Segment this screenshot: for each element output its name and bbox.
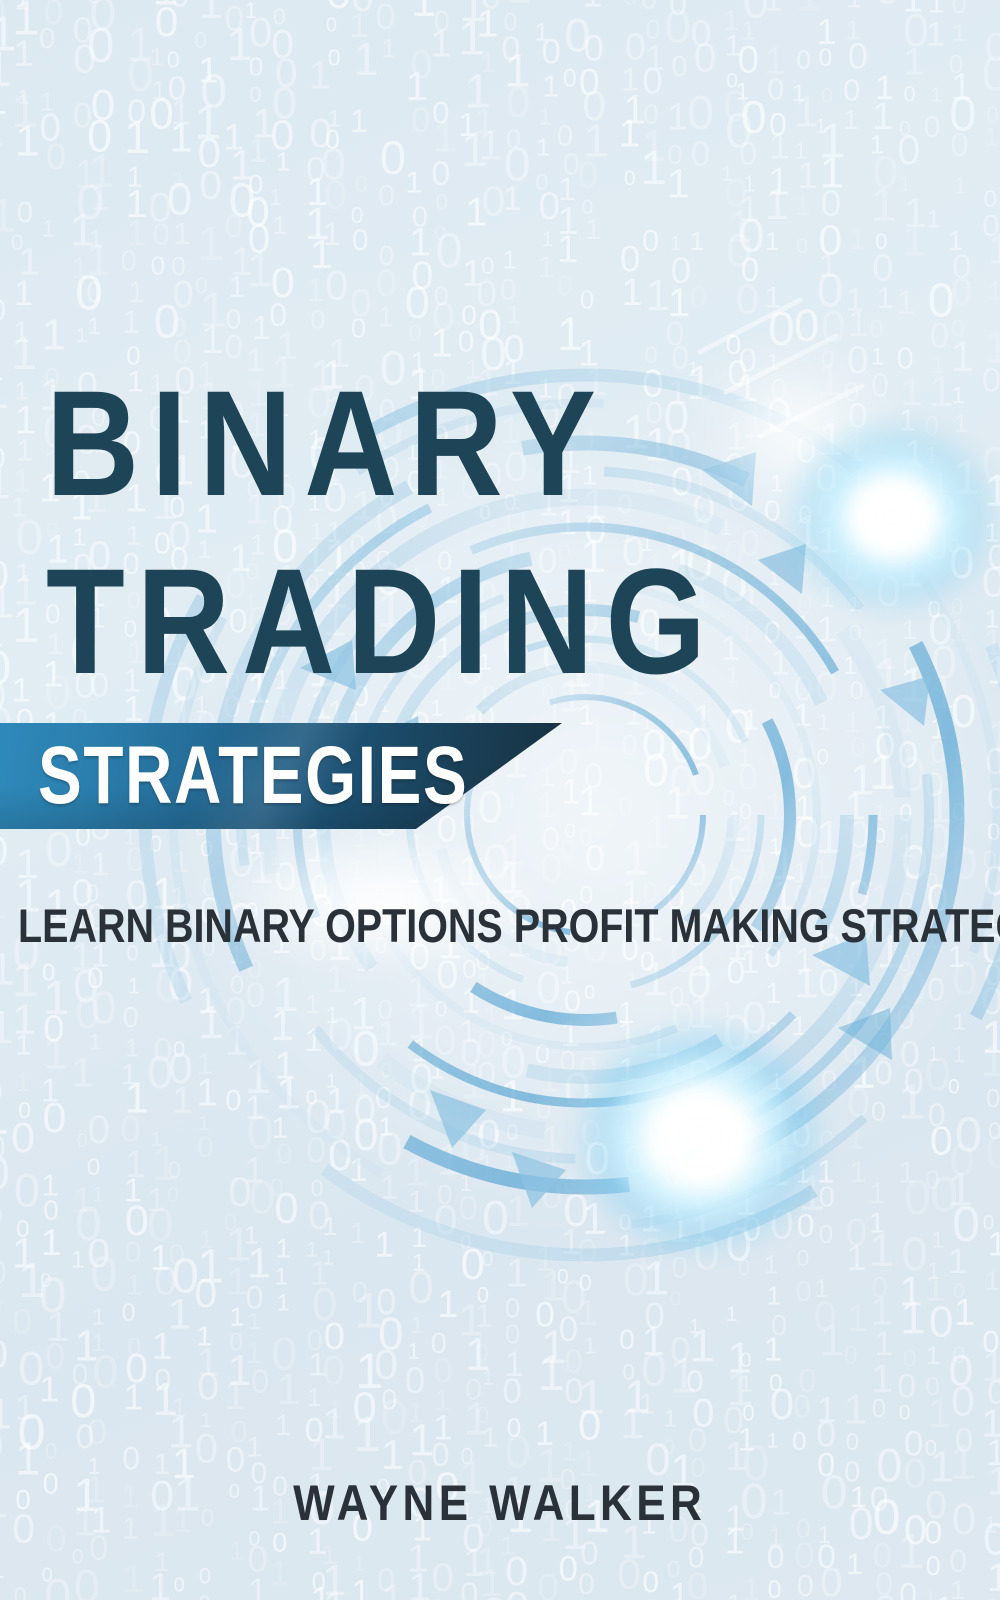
banner-label-strategies: STRATEGIES bbox=[38, 735, 468, 817]
title-line-trading: TRADING bbox=[46, 546, 718, 696]
cover-content: BINARY TRADING STRATEGIES LEARN BINARY O… bbox=[0, 0, 1000, 1600]
book-cover: 0111101011110100110001101111100100010001… bbox=[0, 0, 1000, 1600]
title-line-binary: BINARY bbox=[46, 368, 608, 518]
cover-subtitle: LEARN BINARY OPTIONS PROFIT MAKING STRAT… bbox=[18, 902, 828, 949]
author-name-text: WAYNE WALKER bbox=[294, 1478, 707, 1528]
author-name: WAYNE WALKER bbox=[0, 1478, 1000, 1528]
